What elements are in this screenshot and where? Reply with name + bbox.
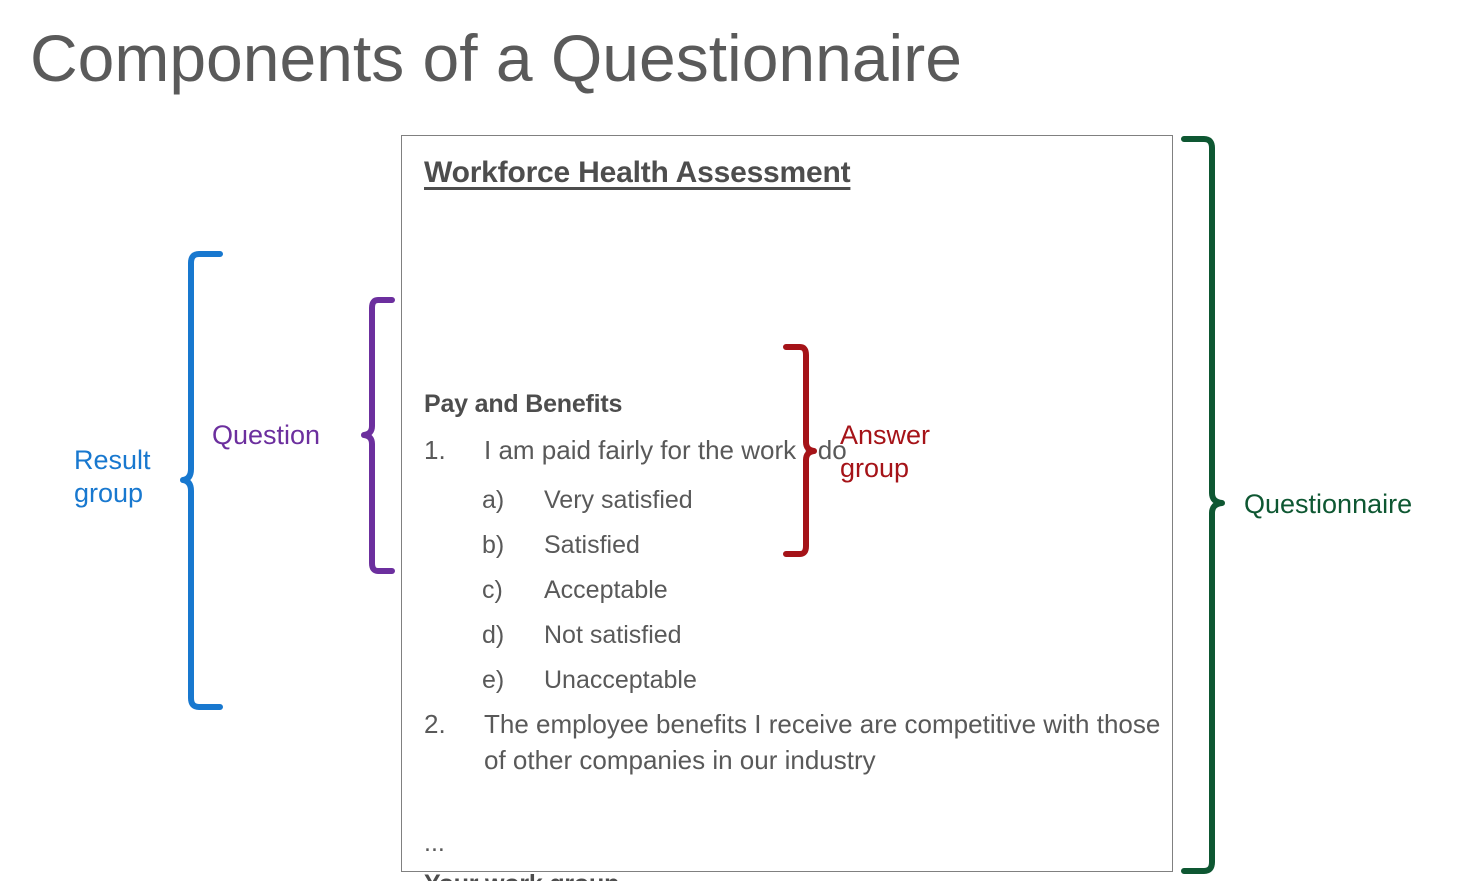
answer-letter: a) bbox=[482, 478, 544, 523]
annotation-label-line: Questionnaire bbox=[1244, 488, 1412, 521]
card-heading: Workforce Health Assessment bbox=[424, 153, 850, 193]
answer-letter: c) bbox=[482, 568, 544, 613]
answer-text: Satisfied bbox=[544, 523, 640, 568]
answer-option-a: a) Very satisfied bbox=[482, 478, 697, 523]
answer-text: Acceptable bbox=[544, 568, 668, 613]
answer-text: Very satisfied bbox=[544, 478, 693, 523]
annotation-label-answer-group: Answer group bbox=[840, 419, 930, 485]
annotation-label-question: Question bbox=[212, 419, 320, 452]
page-title: Components of a Questionnaire bbox=[30, 18, 962, 98]
annotation-label-line: group bbox=[74, 477, 151, 510]
bracket-result-group bbox=[183, 254, 220, 707]
annotation-label-line: Result bbox=[74, 444, 151, 477]
answer-letter: d) bbox=[482, 613, 544, 658]
card-heading-wrap: Workforce Health Assessment bbox=[424, 153, 1160, 193]
question-item-1: 1. I am paid fairly for the work I do bbox=[424, 432, 1124, 468]
answer-option-b: b) Satisfied bbox=[482, 523, 697, 568]
answer-option-e: e) Unacceptable bbox=[482, 658, 697, 703]
slide-canvas: Components of a Questionnaire Workforce … bbox=[0, 0, 1467, 881]
answer-letter: e) bbox=[482, 658, 544, 703]
bracket-questionnaire bbox=[1184, 139, 1222, 871]
annotation-label-questionnaire: Questionnaire bbox=[1244, 488, 1412, 521]
question-item-2: 2. The employee benefits I receive are c… bbox=[424, 706, 1164, 778]
annotation-label-result-group: Result group bbox=[74, 444, 151, 510]
annotation-label-line: group bbox=[840, 452, 930, 485]
answer-list: a) Very satisfied b) Satisfied c) Accept… bbox=[482, 478, 697, 703]
question-number: 1. bbox=[424, 432, 484, 468]
bracket-question bbox=[364, 300, 392, 571]
question-text: I am paid fairly for the work I do bbox=[484, 432, 1124, 468]
question-number: 2. bbox=[424, 706, 484, 778]
questionnaire-card: Workforce Health Assessment Pay and Bene… bbox=[401, 135, 1173, 872]
ellipsis-text: ... bbox=[424, 828, 445, 858]
answer-letter: b) bbox=[482, 523, 544, 568]
answer-text: Unacceptable bbox=[544, 658, 697, 703]
annotation-label-line: Question bbox=[212, 419, 320, 452]
question-text: The employee benefits I receive are comp… bbox=[484, 706, 1164, 778]
section-heading-your-work-group: Your work group bbox=[424, 867, 619, 881]
answer-text: Not satisfied bbox=[544, 613, 682, 658]
annotation-label-line: Answer bbox=[840, 419, 930, 452]
answer-option-d: d) Not satisfied bbox=[482, 613, 697, 658]
answer-option-c: c) Acceptable bbox=[482, 568, 697, 613]
section-heading-pay-and-benefits: Pay and Benefits bbox=[424, 387, 622, 421]
